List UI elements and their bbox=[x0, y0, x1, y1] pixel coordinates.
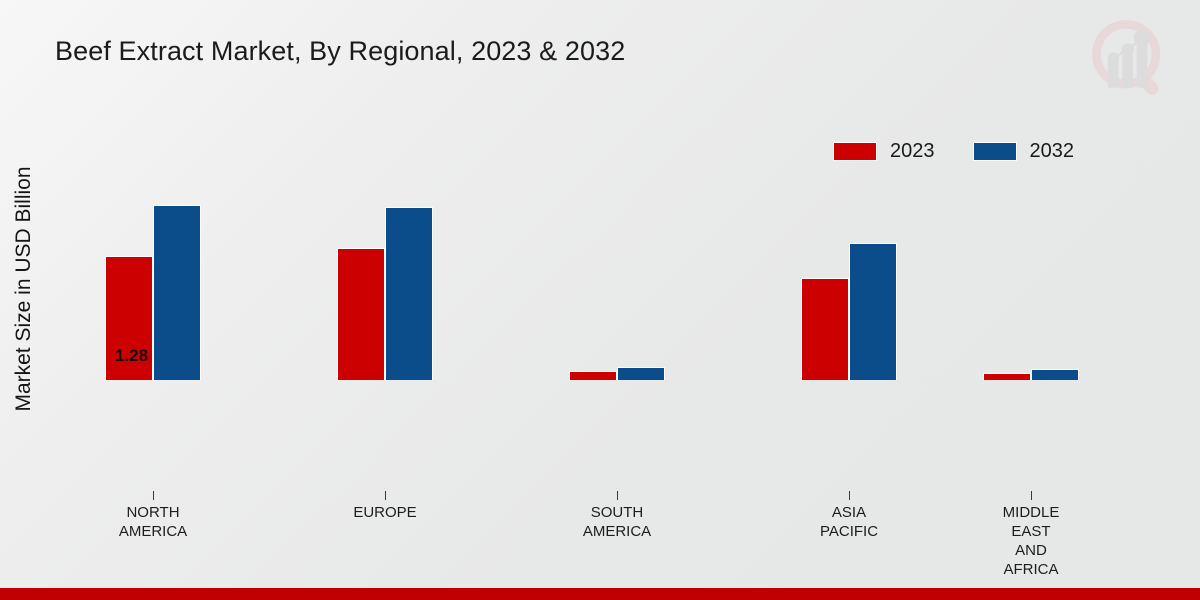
bar-group-europe bbox=[337, 207, 433, 380]
axis-tick-middle-east-and-africa bbox=[1031, 491, 1032, 500]
category-label-middle-east-and-africa: MIDDLE EAST AND AFRICA bbox=[941, 503, 1121, 579]
category-label-line: EAST bbox=[941, 522, 1121, 541]
category-label-line: AMERICA bbox=[527, 522, 707, 541]
plot-area bbox=[45, 105, 1155, 490]
bar-asia-pacific-2023[interactable] bbox=[801, 278, 849, 380]
page-title: Beef Extract Market, By Regional, 2023 &… bbox=[55, 36, 625, 67]
bar-europe-2032[interactable] bbox=[385, 207, 433, 380]
bar-south-america-2023[interactable] bbox=[569, 371, 617, 380]
category-label-line: PACIFIC bbox=[759, 522, 939, 541]
value-label-north-america-2023: 1.28 bbox=[115, 346, 148, 366]
category-label-europe: EUROPE bbox=[295, 503, 475, 522]
bar-group-asia-pacific bbox=[801, 243, 897, 380]
axis-tick-south-america bbox=[617, 491, 618, 500]
bar-group-south-america bbox=[569, 367, 665, 380]
bar-asia-pacific-2032[interactable] bbox=[849, 243, 897, 380]
bar-south-america-2032[interactable] bbox=[617, 367, 665, 380]
axis-tick-asia-pacific bbox=[849, 491, 850, 500]
category-label-line: AFRICA bbox=[941, 560, 1121, 579]
category-label-line: ASIA bbox=[759, 503, 939, 522]
category-label-line: MIDDLE bbox=[941, 503, 1121, 522]
category-label-line: NORTH bbox=[63, 503, 243, 522]
category-label-north-america: NORTH AMERICA bbox=[63, 503, 243, 541]
y-axis-title: Market Size in USD Billion bbox=[12, 119, 36, 459]
category-label-line: EUROPE bbox=[295, 503, 475, 522]
category-label-line: SOUTH bbox=[527, 503, 707, 522]
category-label-south-america: SOUTH AMERICA bbox=[527, 503, 707, 541]
category-label-line: AND bbox=[941, 541, 1121, 560]
category-label-line: AMERICA bbox=[63, 522, 243, 541]
axis-tick-europe bbox=[385, 491, 386, 500]
bar-middle-east-and-africa-2023[interactable] bbox=[983, 373, 1031, 380]
bar-europe-2023[interactable] bbox=[337, 248, 385, 380]
bar-group-middle-east-and-africa bbox=[983, 369, 1079, 380]
category-label-asia-pacific: ASIA PACIFIC bbox=[759, 503, 939, 541]
chart-canvas: Beef Extract Market, By Regional, 2023 &… bbox=[0, 0, 1200, 600]
brand-watermark-icon bbox=[1082, 12, 1178, 108]
bar-middle-east-and-africa-2032[interactable] bbox=[1031, 369, 1079, 380]
axis-tick-north-america bbox=[153, 491, 154, 500]
footer-accent-strip bbox=[0, 588, 1200, 600]
bar-north-america-2032[interactable] bbox=[153, 205, 201, 380]
